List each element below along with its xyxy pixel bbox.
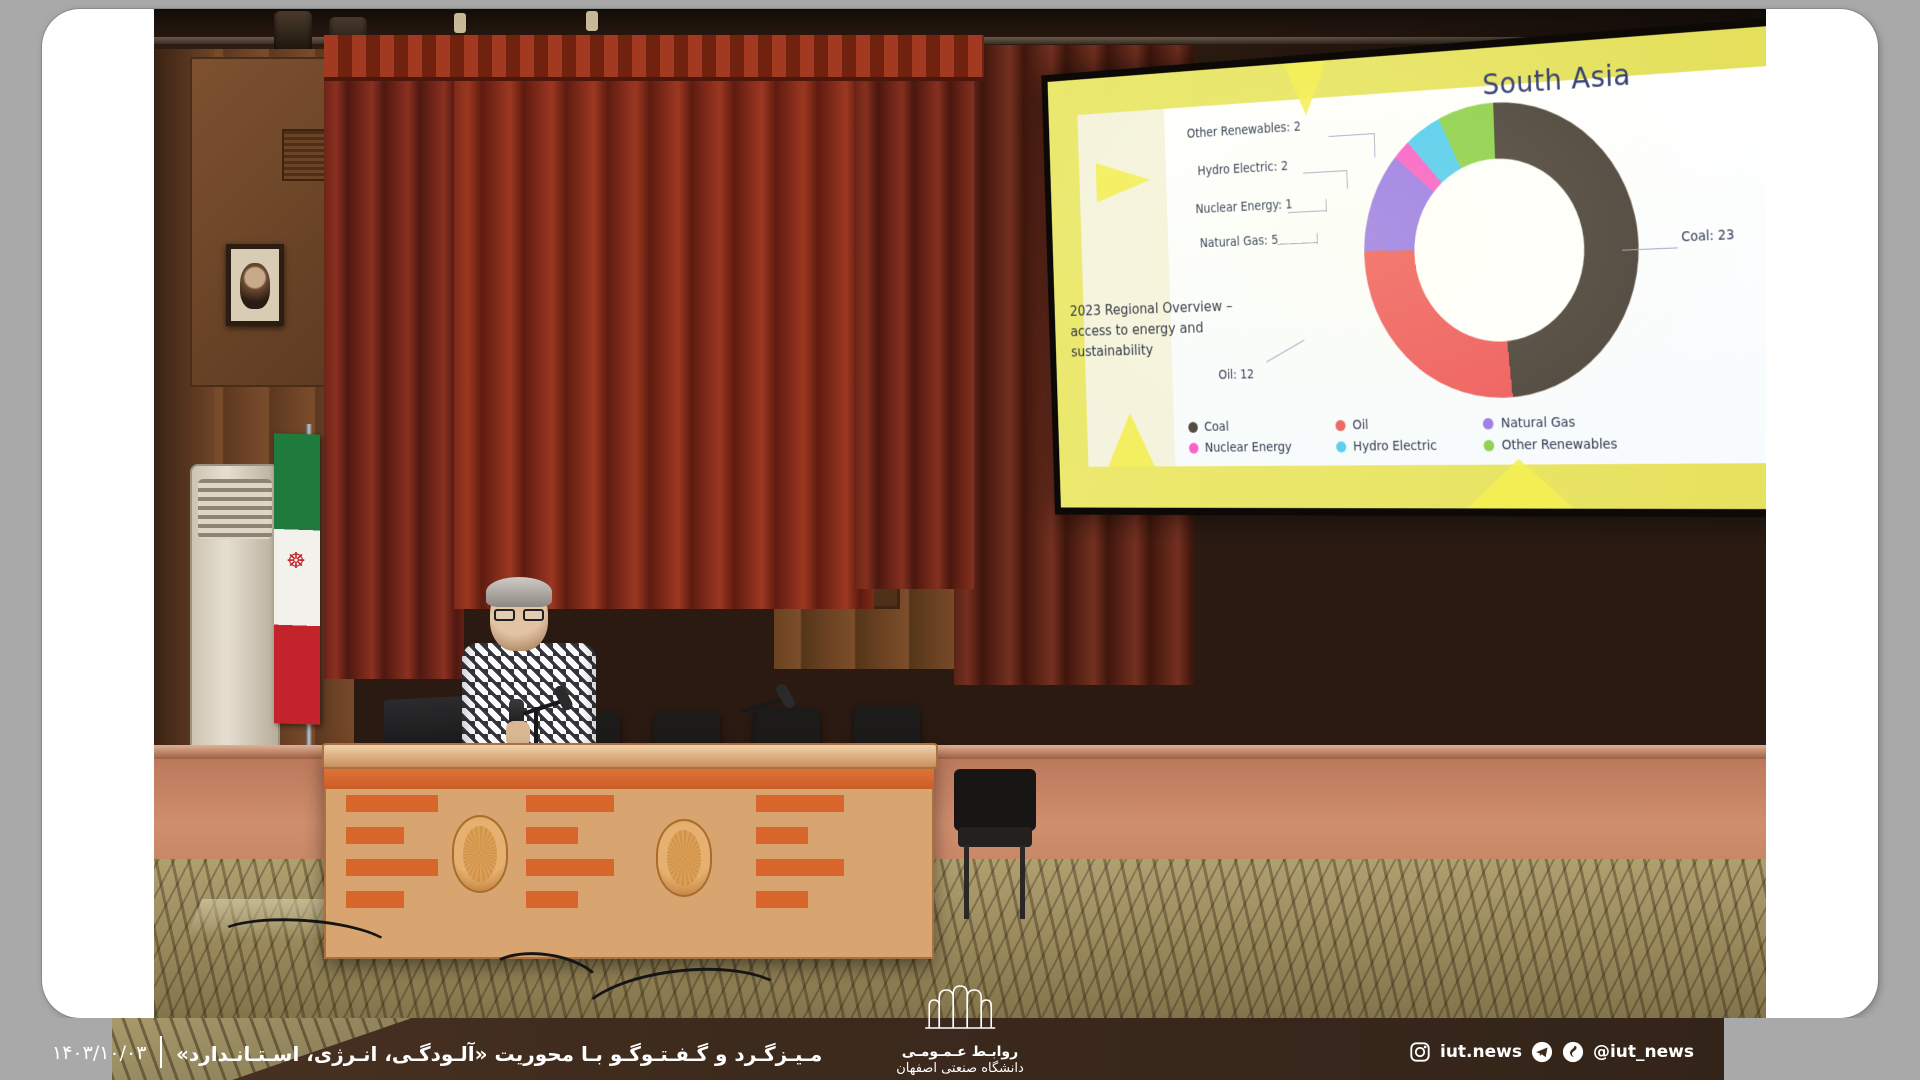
microphone-head	[774, 682, 797, 710]
iut-logo-icon	[923, 984, 997, 1030]
legend-label: Oil	[1352, 418, 1368, 433]
legend-item-oil: Oil	[1336, 417, 1437, 433]
footer-pr-line2: دانشگاه صنعتی اصفهان	[896, 1061, 1024, 1076]
conference-photo: ☸	[154, 9, 1766, 1018]
chart-legend: Coal Nuclear Energy Oil	[1188, 412, 1766, 455]
slide-yellow-bottom	[1060, 463, 1766, 509]
footer-bar: ۱۴۰۳/۱۰/۰۳ مـیـزگـرد و گـفـتـوگـو بـا مح…	[0, 1018, 1920, 1080]
footer-pr-line1: روابـط عـمـومـی	[896, 1044, 1024, 1060]
legend-label: Coal	[1204, 420, 1229, 435]
legend-column: Oil Hydro Electric	[1336, 417, 1438, 455]
chair-side	[954, 769, 1036, 919]
legend-swatch-coal	[1188, 422, 1198, 433]
legend-item-nuclear-energy: Nuclear Energy	[1189, 440, 1292, 455]
decor-ray	[1096, 160, 1151, 202]
legend-item-hydro-electric: Hydro Electric	[1336, 439, 1437, 455]
instagram-handle[interactable]: iut.news	[1440, 1042, 1522, 1062]
flag-emblem-icon: ☸	[285, 549, 307, 575]
speaker-glasses	[494, 609, 546, 621]
footer-social: iut.news @iut_news	[1409, 1041, 1694, 1063]
spot-bulb	[454, 13, 466, 33]
curtain-left	[324, 39, 464, 679]
chair-back	[954, 769, 1036, 831]
footer-title: مـیـزگـرد و گـفـتـوگـو بـا محوریت «آلـود…	[176, 1042, 822, 1066]
telegram-icon[interactable]	[1531, 1041, 1553, 1063]
legend-item-natural-gas: Natural Gas	[1483, 414, 1617, 431]
speaker-hair	[486, 577, 552, 607]
legend-swatch-other-renewables	[1484, 440, 1495, 452]
eitaa-handle[interactable]: @iut_news	[1593, 1042, 1694, 1062]
footer-date: ۱۴۰۳/۱۰/۰۳	[52, 1042, 146, 1064]
eitaa-icon[interactable]	[1562, 1041, 1584, 1063]
presentation-slide: South Asia 2023 Regional Overview – acce…	[1048, 26, 1766, 509]
curtain-right	[854, 49, 974, 589]
chair-leg	[1020, 845, 1025, 919]
decor-ray	[1283, 60, 1328, 116]
legend-column: Natural Gas Other Renewables	[1483, 414, 1618, 453]
legend-swatch-oil	[1336, 420, 1346, 431]
data-label-coal: Coal: 23	[1681, 227, 1734, 245]
legend-item-coal: Coal	[1188, 419, 1291, 435]
iran-flag	[274, 433, 320, 725]
chair-leg	[964, 845, 969, 919]
footer-divider	[160, 1036, 162, 1068]
instagram-icon[interactable]	[1409, 1041, 1431, 1063]
projection-screen: South Asia 2023 Regional Overview – acce…	[1041, 18, 1766, 518]
decor-ray	[1466, 458, 1575, 508]
hall-scene: ☸	[154, 9, 1766, 1018]
curtain-center	[454, 49, 874, 609]
legend-label: Natural Gas	[1501, 415, 1576, 431]
legend-item-other-renewables: Other Renewables	[1484, 437, 1618, 454]
podium-top	[322, 743, 938, 769]
slide-caption: 2023 Regional Overview – access to energ…	[1070, 294, 1252, 362]
portrait-face	[240, 263, 270, 309]
donut-chart	[1360, 93, 1644, 400]
chair-seat	[958, 827, 1032, 847]
legend-swatch-natural-gas	[1483, 418, 1494, 430]
curtain-valance	[324, 35, 984, 81]
legend-label: Hydro Electric	[1353, 439, 1437, 455]
footer-branding: روابـط عـمـومـی دانشگاه صنعتی اصفهان	[896, 1044, 1024, 1076]
legend-label: Nuclear Energy	[1205, 440, 1292, 455]
decor-ray	[1107, 413, 1155, 467]
legend-label: Other Renewables	[1501, 437, 1617, 453]
podium-emblem	[452, 815, 508, 893]
wall-portrait	[226, 244, 284, 326]
photo-card: ☸	[42, 9, 1878, 1018]
page-root: ☸	[0, 0, 1920, 1080]
data-label-oil: Oil: 12	[1218, 367, 1254, 382]
air-conditioner-vents	[198, 479, 272, 539]
legend-swatch-hydro-electric	[1336, 441, 1346, 452]
spot-bulb	[586, 11, 598, 31]
legend-swatch-nuclear-energy	[1189, 443, 1199, 454]
legend-column: Coal Nuclear Energy	[1188, 419, 1292, 456]
podium-emblem	[656, 819, 712, 897]
